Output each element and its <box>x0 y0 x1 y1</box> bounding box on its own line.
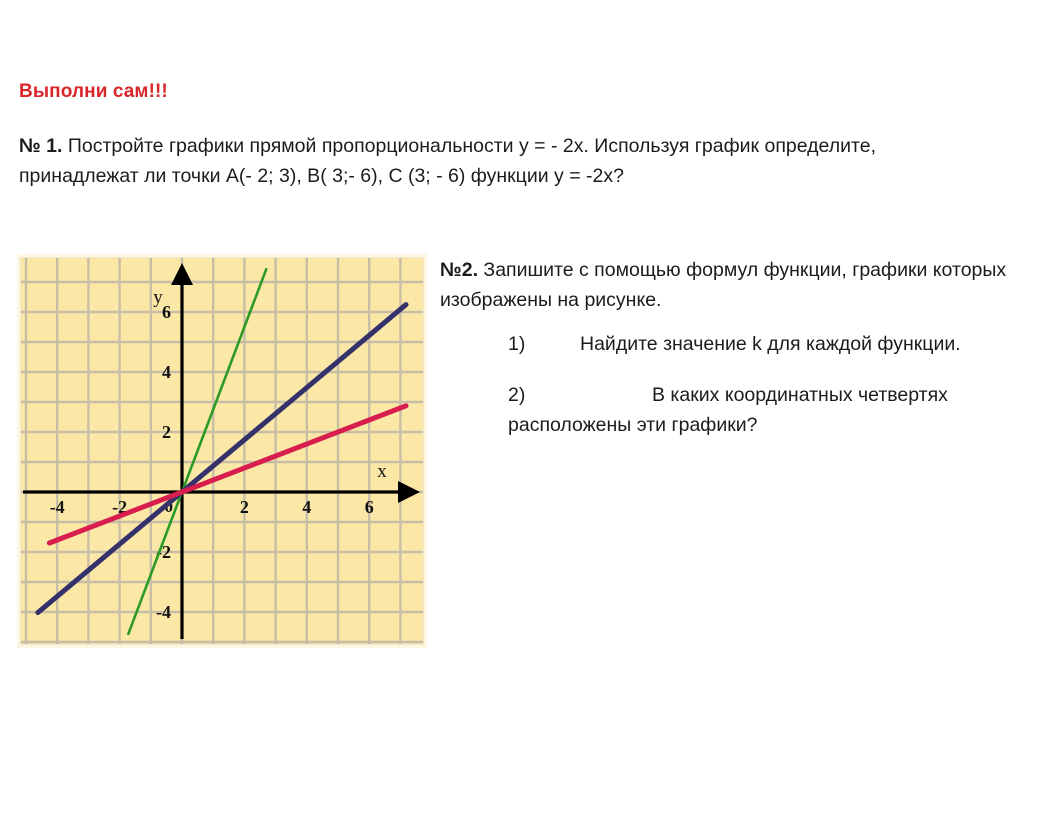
x-tick-label: 2 <box>240 497 249 517</box>
task-1-body: Постройте графики прямой пропорционально… <box>19 135 876 187</box>
task-2-subitem-1: 1)Найдите значение k для каждой функции. <box>508 329 1060 359</box>
y-tick-label: 4 <box>162 362 171 382</box>
y-tick-label: 2 <box>162 422 171 442</box>
task-2-subitem-2-number: 2) <box>508 380 580 410</box>
task-1-number: № 1. <box>19 135 62 157</box>
task-2-subitem-1-number: 1) <box>508 329 580 359</box>
page-root: Выполни сам!!! № 1. Постройте графики пр… <box>0 0 1060 832</box>
task-1-text: № 1. Постройте графики прямой пропорцион… <box>19 131 979 191</box>
task-2-subitem-2: 2)В каких координатных четвертях располо… <box>508 380 1060 440</box>
task-2-body: Запишите с помощью формул функции, графи… <box>440 259 1006 311</box>
y-tick-label: 6 <box>162 302 171 322</box>
x-tick-label: 6 <box>365 497 374 517</box>
coordinate-graph-figure: yx-4-2246642-2-40 <box>17 254 427 648</box>
y-tick-label: -4 <box>156 602 171 622</box>
task-2-number: №2. <box>440 259 478 281</box>
coordinate-graph: yx-4-2246642-2-40 <box>20 257 424 645</box>
x-tick-label: 4 <box>302 497 311 517</box>
x-axis-label: x <box>377 461 387 482</box>
task-2-text: №2. Запишите с помощью формул функции, г… <box>440 255 1010 315</box>
graph-background <box>20 257 424 645</box>
x-tick-label: -4 <box>50 497 65 517</box>
heading-alert: Выполни сам!!! <box>19 81 168 103</box>
task-2-subitem-1-label: Найдите значение k для каждой функции. <box>580 333 961 355</box>
